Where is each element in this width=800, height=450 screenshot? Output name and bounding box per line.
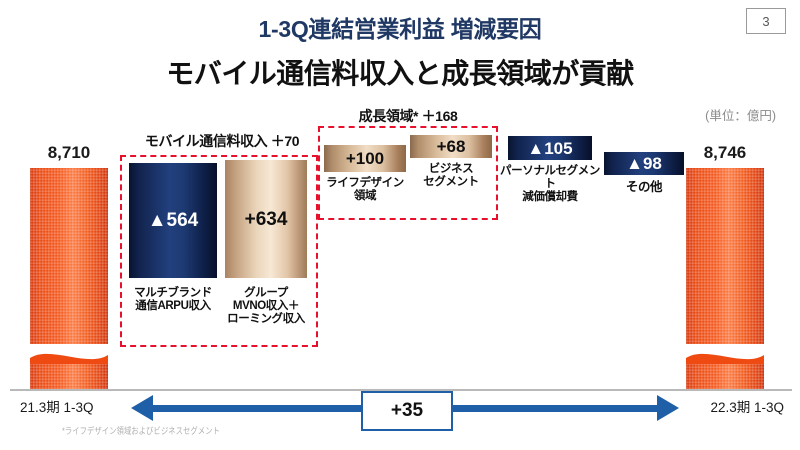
net-change-box: +35 xyxy=(361,391,453,431)
page-title: 1-3Q連結営業利益 増減要因 xyxy=(0,10,800,44)
bar-life-design: +100 xyxy=(324,145,406,172)
bar-caption-others: その他 xyxy=(604,180,684,194)
group-heading-mobile: モバイル通信料収入 ＋70 xyxy=(122,131,322,151)
bar-others: ▲98 xyxy=(604,152,684,175)
arrow-line-right xyxy=(446,405,658,412)
bar-caption-personal-depreciation: パーソナルセグメント減価償却費 xyxy=(496,165,604,204)
axis-label-right-period: 22.3期 1-3Q xyxy=(710,396,784,416)
page-number-box: 3 xyxy=(746,8,786,34)
unit-label: (単位：億円) xyxy=(705,105,776,124)
axis-label-left-period: 21.3期 1-3Q xyxy=(20,396,94,416)
bar-personal-depreciation: ▲105 xyxy=(508,136,592,160)
bar-value-group-mvno-roaming: +634 xyxy=(245,210,288,229)
arrow-head-left xyxy=(131,395,153,421)
arrow-head-right xyxy=(657,395,679,421)
group-heading-growth: 成長領域* ＋168 xyxy=(318,106,498,126)
bar-multibrand-arpu: ▲564 xyxy=(129,163,217,278)
arrow-line-left xyxy=(152,405,364,412)
bar-value-personal-depreciation: ▲105 xyxy=(527,140,572,157)
bar-caption-multibrand-arpu: マルチブランド通信ARPU収入 xyxy=(118,287,228,313)
bar-value-end-total: 8,746 xyxy=(670,143,780,163)
slide-root: 1-3Q連結営業利益 増減要因 モバイル通信料収入と成長領域が貢献 3 (単位：… xyxy=(0,0,800,450)
bar-caption-life-design: ライフデザイン領域 xyxy=(312,177,418,203)
footnote: *ライフデザイン領域およびビジネスセグメント xyxy=(62,424,220,437)
page-subtitle: モバイル通信料収入と成長領域が貢献 xyxy=(0,52,800,92)
bar-caption-group-mvno-roaming: グループMVNO収入＋ローミング収入 xyxy=(220,287,312,326)
bar-group-mvno-roaming: +634 xyxy=(225,160,307,278)
bar-value-life-design: +100 xyxy=(346,150,384,167)
bar-value-business-segment: +68 xyxy=(437,138,466,155)
bar-value-start-total: 8,710 xyxy=(14,143,124,163)
bar-value-multibrand-arpu: ▲564 xyxy=(148,211,199,230)
bar-business-segment: +68 xyxy=(410,135,492,158)
bar-value-others: ▲98 xyxy=(626,155,662,172)
bar-caption-business-segment: ビジネスセグメント xyxy=(408,163,494,189)
